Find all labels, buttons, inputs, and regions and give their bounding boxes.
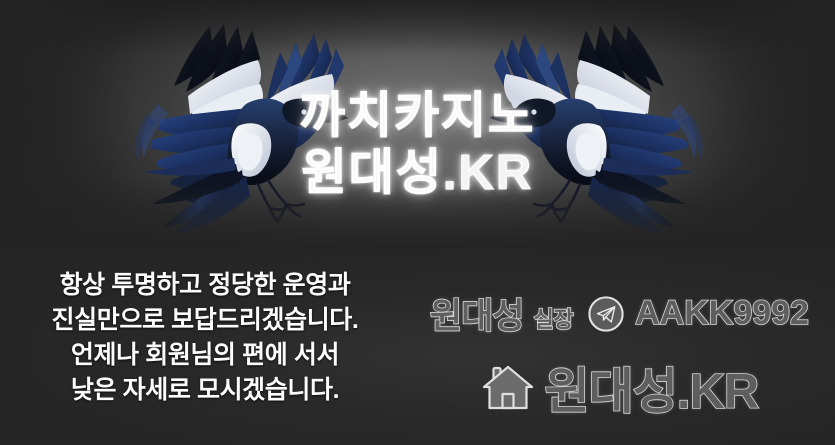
telegram-icon[interactable] [587, 295, 625, 333]
contact-block: 원대성 실장 AAKK9992 [404, 270, 835, 440]
manager-role: 실장 [534, 302, 573, 334]
slogan-line: 낮은 자세로 모시겠습니다. [8, 373, 402, 408]
slogan-line: 진실만으로 보답드리겠습니다. [8, 303, 402, 338]
home-icon[interactable] [481, 362, 535, 414]
telegram-contact-row[interactable]: 원대성 실장 AAKK9992 [404, 288, 835, 339]
slogan-line: 항상 투명하고 정당한 운영과 [8, 268, 402, 303]
casino-promo-banner: 까치카지노 원대성.KR 항상 투명하고 정당한 운영과 진실만으로 보답드리겠… [0, 0, 835, 445]
bottom-section: 항상 투명하고 정당한 운영과 진실만으로 보답드리겠습니다. 언제나 회원님의… [0, 248, 835, 445]
manager-name: 원대성 [430, 288, 524, 339]
telegram-handle[interactable]: AAKK9992 [635, 294, 809, 333]
hero-vignette [0, 0, 835, 248]
slogan-block: 항상 투명하고 정당한 운영과 진실만으로 보답드리겠습니다. 언제나 회원님의… [8, 268, 402, 408]
hero-section [0, 0, 835, 248]
website-row[interactable]: 원대성.KR [404, 352, 835, 423]
website-url[interactable]: 원대성.KR [545, 352, 759, 423]
slogan-line: 언제나 회원님의 편에 서서 [8, 338, 402, 373]
